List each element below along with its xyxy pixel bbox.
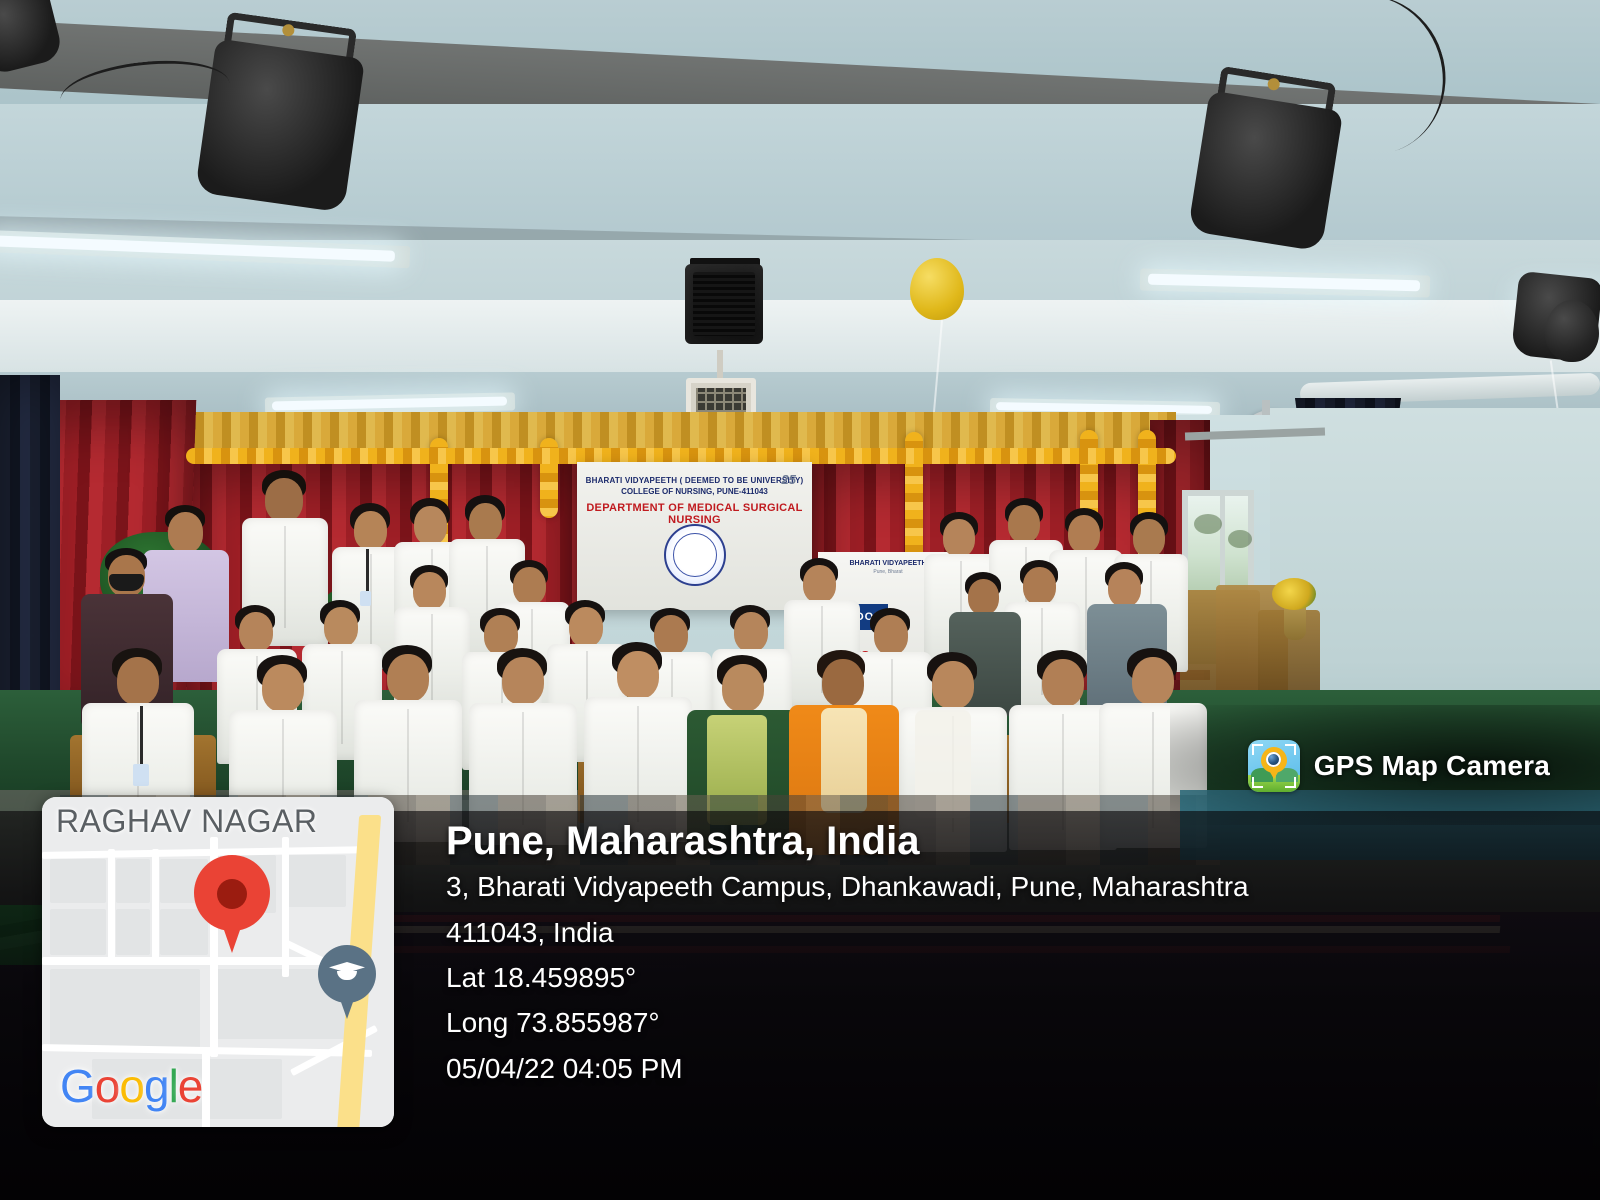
stamp-address-line-1: 3, Bharati Vidyapeeth Campus, Dhankawadi… — [446, 864, 1556, 909]
stamp-address-line-2: 411043, India — [446, 910, 1556, 955]
map-road — [202, 1052, 210, 1127]
banner-line-3: DEPARTMENT OF MEDICAL SURGICAL NURSING — [577, 502, 812, 526]
location-stamp-text: Pune, Maharashtra, India 3, Bharati Vidy… — [446, 818, 1556, 1091]
google-letter-g: G — [60, 1060, 95, 1112]
gps-map-camera-badge[interactable]: GPS Map Camera — [1234, 730, 1576, 802]
face-mask — [109, 574, 144, 591]
balloon-dark — [1545, 300, 1599, 362]
stamp-city: Pune, Maharashtra, India — [446, 818, 1556, 864]
gps-map-camera-icon — [1248, 740, 1300, 792]
balloon-yellow — [910, 258, 964, 320]
stamp-latitude: Lat 18.459895° — [446, 955, 1556, 1000]
banner-anniversary-badge: 25 — [782, 472, 796, 487]
google-watermark: Google — [60, 1059, 202, 1113]
map-thumbnail[interactable]: RAGHAV NAGAR Google — [42, 797, 394, 1127]
stamp-datetime: 05/04/22 04:05 PM — [446, 1046, 1556, 1091]
cage-mount — [717, 350, 723, 378]
google-letter-o1: o — [95, 1060, 120, 1112]
graduation-cap-icon — [329, 962, 365, 975]
university-crest-icon — [664, 524, 726, 586]
google-letter-g2: g — [144, 1060, 169, 1112]
school-pin-icon — [318, 945, 376, 1003]
stamp-longitude: Long 73.855987° — [446, 1000, 1556, 1045]
map-area-label: RAGHAV NAGAR — [56, 803, 317, 840]
map-road — [282, 837, 289, 977]
screenshot-root: BHARATI VIDYAPEETH ( DEEMED TO BE UNIVER… — [0, 0, 1600, 1200]
map-road — [152, 849, 159, 961]
flower-bouquet — [1272, 578, 1316, 610]
banner-line-1: BHARATI VIDYAPEETH ( DEEMED TO BE UNIVER… — [577, 476, 812, 485]
stage-light — [195, 38, 365, 212]
google-letter-e: e — [178, 1060, 203, 1112]
ceiling-speaker — [685, 264, 763, 344]
event-banner: BHARATI VIDYAPEETH ( DEEMED TO BE UNIVER… — [577, 462, 812, 610]
map-location-pin-icon — [194, 855, 270, 931]
google-letter-o2: o — [119, 1060, 144, 1112]
google-letter-l: l — [169, 1060, 178, 1112]
banner-line-2: COLLEGE OF NURSING, PUNE-411043 — [577, 487, 812, 496]
gps-badge-label: GPS Map Camera — [1314, 750, 1550, 782]
map-road — [108, 849, 115, 961]
